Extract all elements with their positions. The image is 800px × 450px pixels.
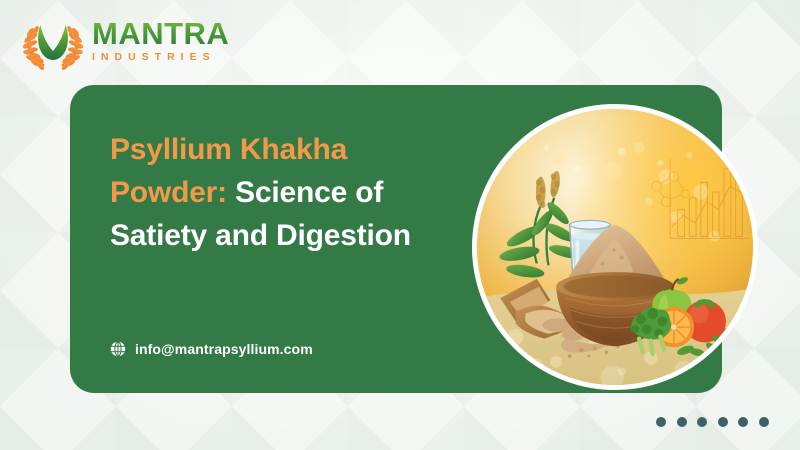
- laurel-wreath-m-monogram-icon: [22, 12, 84, 70]
- pagination-dot[interactable]: [697, 417, 707, 427]
- page-title: Psyllium Khakha Powder: Science of Satie…: [110, 128, 470, 258]
- pagination-dot[interactable]: [677, 417, 687, 427]
- globe-icon: [110, 341, 126, 357]
- pagination-dot[interactable]: [738, 417, 748, 427]
- brand-logo[interactable]: MANTRA INDUSTRIES: [22, 10, 272, 72]
- pagination-dot[interactable]: [759, 417, 769, 427]
- pagination-dots[interactable]: [656, 417, 769, 427]
- brand-wordmark: MANTRA: [92, 18, 272, 49]
- contact-email-row[interactable]: info@mantrapsyllium.com: [110, 341, 313, 357]
- product-illustration: [477, 109, 753, 385]
- brand-logo-text: MANTRA INDUSTRIES: [92, 18, 272, 63]
- pagination-dot[interactable]: [656, 417, 666, 427]
- brand-subwordmark: INDUSTRIES: [92, 52, 272, 63]
- contact-email-text[interactable]: info@mantrapsyllium.com: [135, 342, 313, 356]
- promo-banner: MANTRA INDUSTRIES Psyllium Khakha Powder…: [0, 0, 800, 450]
- pagination-dot[interactable]: [718, 417, 728, 427]
- product-image: [472, 104, 758, 390]
